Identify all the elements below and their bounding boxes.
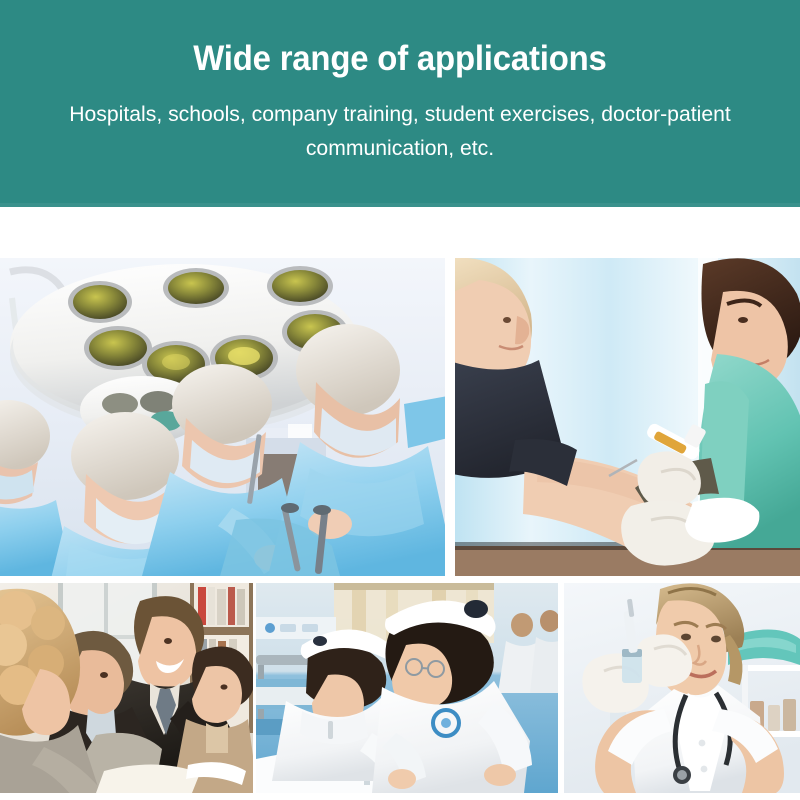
surgery-illustration (0, 258, 445, 576)
photo-nursing-students (256, 583, 558, 793)
page-subtitle: Hospitals, schools, company training, st… (17, 97, 783, 165)
nursing-students-illustration (256, 583, 558, 793)
application-scenarios-page: Wide range of applications Hospitals, sc… (0, 0, 800, 800)
blood-draw-illustration (455, 258, 800, 576)
photo-gallery (0, 258, 800, 793)
header-banner: Wide range of applications Hospitals, sc… (0, 0, 800, 207)
page-title: Wide range of applications (193, 38, 606, 80)
photo-surgery (0, 258, 445, 576)
doctor-vial-illustration (564, 583, 800, 793)
photo-doctor-with-vial (564, 583, 800, 793)
meeting-illustration (0, 583, 253, 793)
photo-blood-draw (455, 258, 800, 576)
photo-company-training (0, 583, 253, 793)
